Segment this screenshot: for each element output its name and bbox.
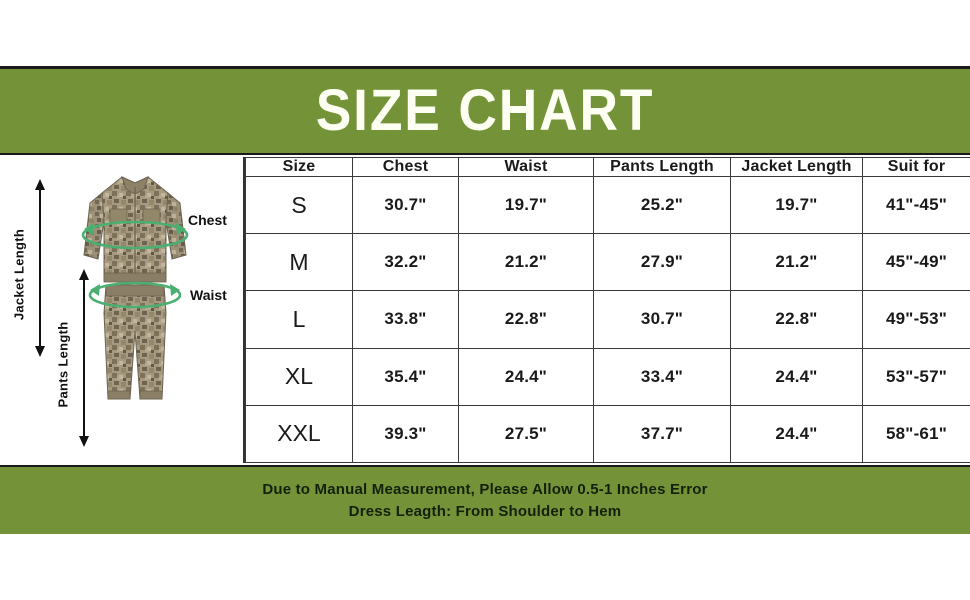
cell-waist: 27.5" [459, 405, 594, 462]
cell-size: XXL [246, 405, 353, 462]
table-row: S 30.7" 19.7" 25.2" 19.7" 41"-45" [246, 177, 970, 234]
table-header-row: Size Chest Waist Pants Length Jacket Len… [246, 158, 970, 177]
chest-label: Chest [188, 212, 227, 228]
cell-size: L [246, 291, 353, 348]
dress-length-note: Dress Leagth: From Shoulder to Hem [349, 501, 622, 523]
camouflage-uniform-image [70, 163, 200, 459]
cell-waist: 22.8" [459, 291, 594, 348]
cell-jacket-length: 21.2" [731, 234, 863, 291]
cell-suit-for: 45"-49" [863, 234, 970, 291]
cell-waist: 19.7" [459, 177, 594, 234]
chart-body: Jacket Length Pants Length [0, 157, 970, 463]
page-title: SIZE CHART [316, 82, 655, 140]
cell-chest: 33.8" [353, 291, 459, 348]
cell-jacket-length: 22.8" [731, 291, 863, 348]
column-header-chest: Chest [353, 158, 459, 177]
cell-size: S [246, 177, 353, 234]
column-header-waist: Waist [459, 158, 594, 177]
cell-suit-for: 53"-57" [863, 348, 970, 405]
column-header-jacket-length: Jacket Length [731, 158, 863, 177]
cell-suit-for: 49"-53" [863, 291, 970, 348]
cell-jacket-length: 24.4" [731, 405, 863, 462]
waist-label: Waist [190, 287, 227, 303]
column-header-suit-for: Suit for [863, 158, 970, 177]
pants-length-label: Pants Length [56, 319, 71, 411]
table-row: XL 35.4" 24.4" 33.4" 24.4" 53"-57" [246, 348, 970, 405]
chart-footer-band: Due to Manual Measurement, Please Allow … [0, 465, 970, 534]
cell-chest: 39.3" [353, 405, 459, 462]
table-row: L 33.8" 22.8" 30.7" 22.8" 49"-53" [246, 291, 970, 348]
size-chart: SIZE CHART Jacket Length Pants Length [0, 66, 970, 534]
cell-pants-length: 37.7" [594, 405, 731, 462]
cell-jacket-length: 19.7" [731, 177, 863, 234]
jacket-length-arrow-icon [32, 179, 48, 357]
cell-pants-length: 25.2" [594, 177, 731, 234]
measurement-disclaimer: Due to Manual Measurement, Please Allow … [262, 479, 707, 501]
table-row: M 32.2" 21.2" 27.9" 21.2" 45"-49" [246, 234, 970, 291]
cell-jacket-length: 24.4" [731, 348, 863, 405]
jacket-length-label: Jacket Length [12, 229, 27, 321]
cell-chest: 35.4" [353, 348, 459, 405]
cell-chest: 30.7" [353, 177, 459, 234]
size-table: Size Chest Waist Pants Length Jacket Len… [245, 157, 970, 463]
cell-pants-length: 33.4" [594, 348, 731, 405]
cell-size: XL [246, 348, 353, 405]
garment-illustration-panel: Jacket Length Pants Length [0, 157, 245, 463]
column-header-size: Size [246, 158, 353, 177]
table-row: XXL 39.3" 27.5" 37.7" 24.4" 58"-61" [246, 405, 970, 462]
cell-waist: 21.2" [459, 234, 594, 291]
cell-waist: 24.4" [459, 348, 594, 405]
cell-pants-length: 27.9" [594, 234, 731, 291]
cell-suit-for: 58"-61" [863, 405, 970, 462]
size-table-wrapper: Size Chest Waist Pants Length Jacket Len… [245, 157, 970, 463]
column-header-pants-length: Pants Length [594, 158, 731, 177]
cell-chest: 32.2" [353, 234, 459, 291]
chart-title-band: SIZE CHART [0, 69, 970, 155]
cell-pants-length: 30.7" [594, 291, 731, 348]
cell-size: M [246, 234, 353, 291]
cell-suit-for: 41"-45" [863, 177, 970, 234]
